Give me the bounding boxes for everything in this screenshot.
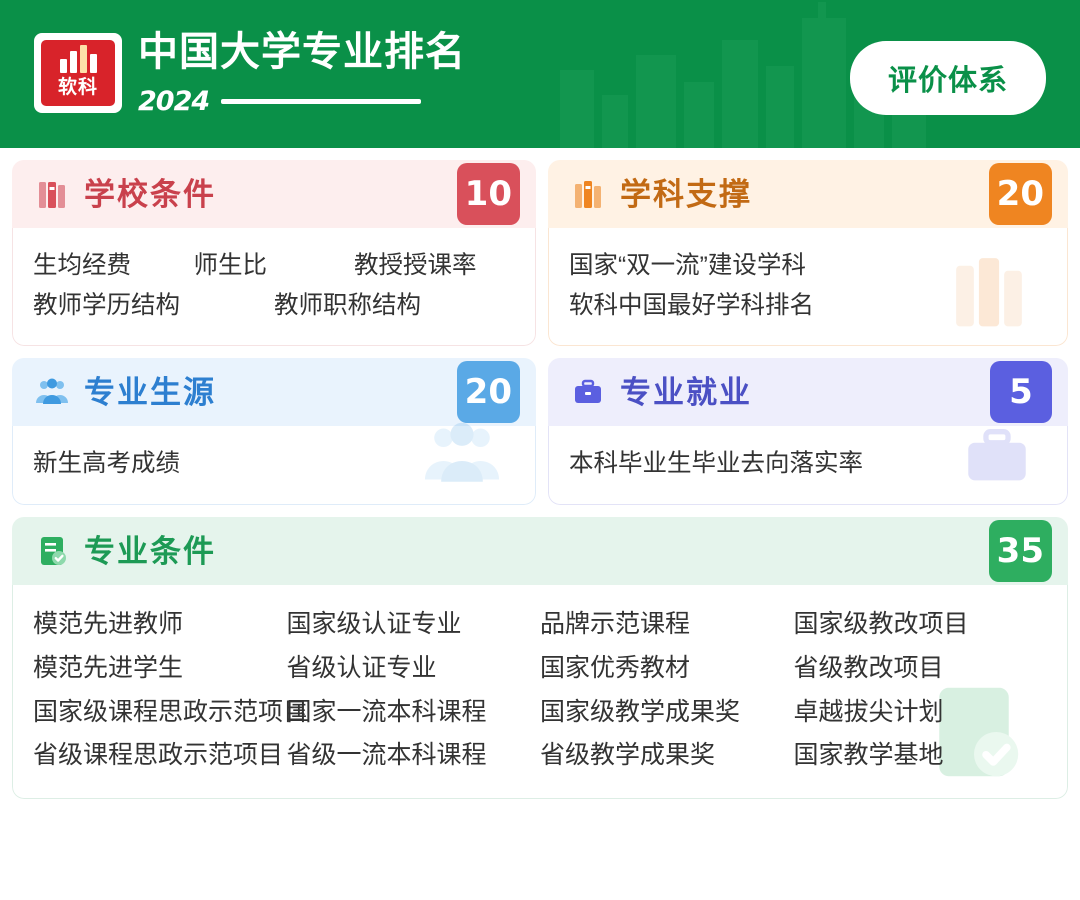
header-title-block: 中国大学专业排名 2024 xyxy=(138,32,466,117)
list-item: 国家教学基地 xyxy=(794,734,1048,778)
list-item: 国家级教改项目 xyxy=(794,603,1048,647)
softscience-logo: 软科 xyxy=(34,33,122,113)
list-item: 省级一流本科课程 xyxy=(287,734,541,778)
card-body: 生均经费 师生比 教授授课率 教师学历结构 教师职称结构 xyxy=(12,228,536,346)
criteria-list: 生均经费 师生比 教授授课率 教师学历结构 教师职称结构 xyxy=(33,246,515,325)
card-title: 专业条件 xyxy=(84,536,216,567)
list-item: 省级教学成果奖 xyxy=(540,734,794,778)
card-body: 本科毕业生毕业去向落实率 xyxy=(548,426,1068,505)
card-header: 学科支撑 20 xyxy=(548,160,1068,228)
card-score: 20 xyxy=(457,361,520,423)
list-item: 教师职称结构 xyxy=(274,286,515,326)
card-header: 专业生源 20 xyxy=(12,358,536,426)
list-item: 国家级认证专业 xyxy=(287,603,541,647)
card-score: 5 xyxy=(990,361,1052,423)
page-header: 软科 中国大学专业排名 2024 评价体系 xyxy=(0,0,1080,148)
logo-text: 软科 xyxy=(58,78,98,97)
year-row: 2024 xyxy=(138,86,466,117)
card-header: 专业就业 5 xyxy=(548,358,1068,426)
logo-inner: 软科 xyxy=(41,40,115,106)
year-divider xyxy=(221,99,421,104)
card-school-conditions: 学校条件 10 生均经费 师生比 教授授课率 教师学历结构 教师职称结构 xyxy=(12,160,536,346)
card-score: 20 xyxy=(989,163,1052,225)
criteria-row-1: 学校条件 10 生均经费 师生比 教授授课率 教师学历结构 教师职称结构 xyxy=(12,160,1068,346)
criteria-list: 国家“双一流”建设学科 软科中国最好学科排名 xyxy=(569,246,1047,325)
card-body: 国家“双一流”建设学科 软科中国最好学科排名 xyxy=(548,228,1068,346)
list-item: 模范先进教师 xyxy=(33,603,287,647)
evaluation-system-badge: 评价体系 xyxy=(850,41,1046,115)
card-header: 专业条件 35 xyxy=(12,517,1068,585)
list-item: 新生高考成绩 xyxy=(33,444,515,484)
card-student-source: 专业生源 20 新生高考成绩 xyxy=(12,358,536,505)
list-item: 省级教改项目 xyxy=(794,647,1048,691)
list-item: 本科毕业生毕业去向落实率 xyxy=(569,444,1047,484)
list-item: 国家优秀教材 xyxy=(540,647,794,691)
list-item: 国家级课程思政示范项目 xyxy=(33,691,287,735)
list-item: 国家一流本科课程 xyxy=(287,691,541,735)
criteria-list: 新生高考成绩 xyxy=(33,444,515,484)
criteria-list: 模范先进教师 国家级认证专业 品牌示范课程 国家级教改项目 模范先进学生 省级认… xyxy=(33,603,1047,778)
card-title: 专业生源 xyxy=(84,377,216,408)
card-major-conditions: 专业条件 35 模范先进教师 国家级认证专业 品牌示范课程 国家级教改项目 模范… xyxy=(12,517,1068,799)
criteria-row-2: 专业生源 20 新生高考成绩 xyxy=(12,358,1068,505)
card-employment: 专业就业 5 本科毕业生毕业去向落实率 xyxy=(548,358,1068,505)
books-orange-icon xyxy=(568,174,608,214)
card-body: 模范先进教师 国家级认证专业 品牌示范课程 国家级教改项目 模范先进学生 省级认… xyxy=(12,585,1068,799)
list-item: 省级课程思政示范项目 xyxy=(33,734,287,778)
list-item: 生均经费 xyxy=(33,246,194,286)
criteria-row-3: 专业条件 35 模范先进教师 国家级认证专业 品牌示范课程 国家级教改项目 模范… xyxy=(12,517,1068,799)
list-item: 品牌示范课程 xyxy=(540,603,794,647)
list-item: 教授授课率 xyxy=(354,246,515,286)
page-title: 中国大学专业排名 xyxy=(138,32,466,72)
card-score: 10 xyxy=(457,163,520,225)
card-title: 学科支撑 xyxy=(620,179,752,210)
books-red-icon xyxy=(32,174,72,214)
list-item: 国家“双一流”建设学科 xyxy=(569,246,1047,286)
list-item: 国家级教学成果奖 xyxy=(540,691,794,735)
list-item: 模范先进学生 xyxy=(33,647,287,691)
list-item: 教师学历结构 xyxy=(33,286,274,326)
card-body: 新生高考成绩 xyxy=(12,426,536,505)
checklist-green-icon xyxy=(32,531,72,571)
criteria-list: 本科毕业生毕业去向落实率 xyxy=(569,444,1047,484)
list-item: 卓越拔尖计划 xyxy=(794,691,1048,735)
criteria-board: 学校条件 10 生均经费 师生比 教授授课率 教师学历结构 教师职称结构 xyxy=(0,148,1080,823)
list-item: 师生比 xyxy=(194,246,355,286)
year-label: 2024 xyxy=(138,86,209,117)
card-score: 35 xyxy=(989,520,1052,582)
card-discipline-support: 学科支撑 20 国家“双一流”建设学科 软科中国最好学科排名 xyxy=(548,160,1068,346)
card-title: 专业就业 xyxy=(620,377,752,408)
people-blue-icon xyxy=(32,372,72,412)
card-title: 学校条件 xyxy=(84,179,216,210)
list-item: 省级认证专业 xyxy=(287,647,541,691)
card-header: 学校条件 10 xyxy=(12,160,536,228)
briefcase-purple-icon xyxy=(568,372,608,412)
softscience-bars-logo-icon xyxy=(60,45,97,73)
list-item: 软科中国最好学科排名 xyxy=(569,286,1047,326)
